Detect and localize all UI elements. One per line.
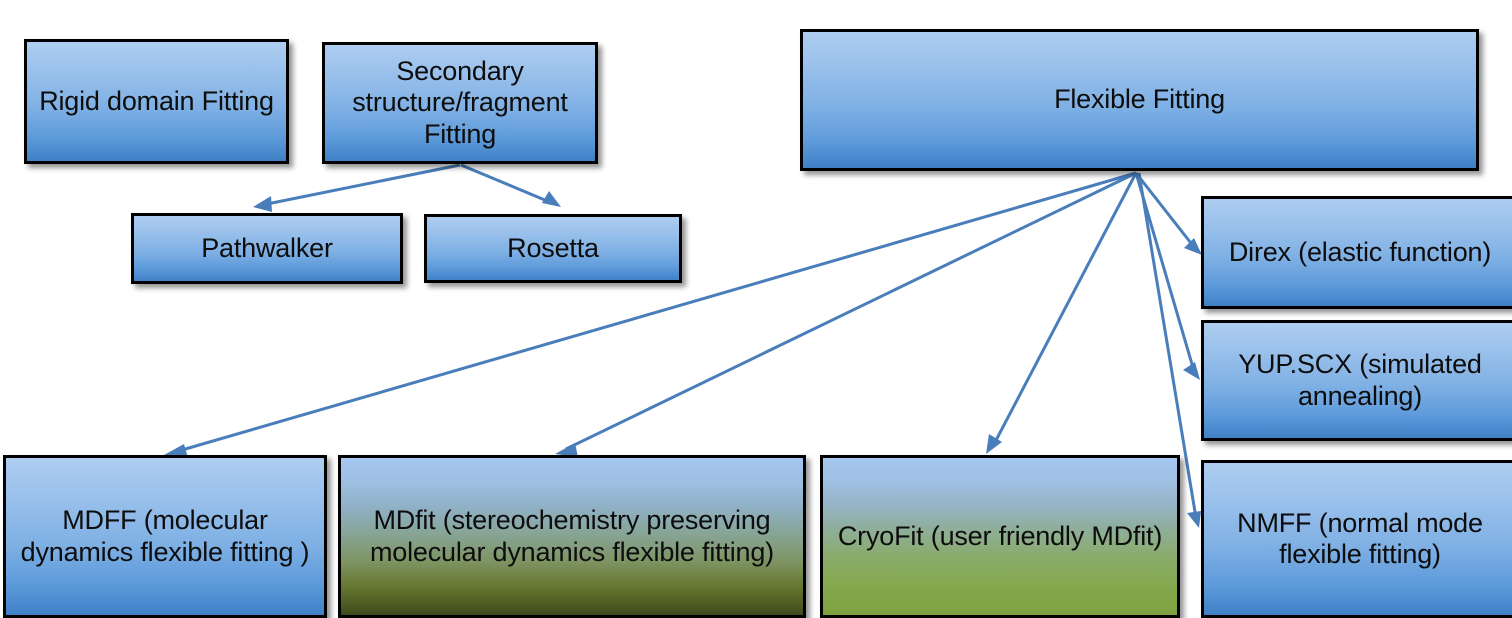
node-mdff[interactable]: MDFF (molecular dynamics flexible fittin… <box>3 455 327 618</box>
node-nmff[interactable]: NMFF (normal mode flexible fitting) <box>1201 460 1512 618</box>
node-label: CryoFit (user friendly MDfit) <box>831 521 1169 552</box>
node-label: Pathwalker <box>142 233 392 264</box>
node-rosetta[interactable]: Rosetta <box>424 214 682 283</box>
node-pathwalker[interactable]: Pathwalker <box>131 213 403 284</box>
node-rigid-domain-fitting[interactable]: Rigid domain Fitting <box>24 39 289 164</box>
diagram-canvas: Rigid domain Fitting Secondary structure… <box>0 0 1512 610</box>
node-label: Flexible Fitting <box>811 84 1468 115</box>
connector-flexible-to-cryofit <box>986 173 1136 454</box>
node-direx[interactable]: Direx (elastic function) <box>1201 196 1512 309</box>
node-label: Secondary structure/fragment Fitting <box>333 56 587 150</box>
node-flexible-fitting[interactable]: Flexible Fitting <box>800 29 1479 171</box>
connector-secondary-to-rosetta <box>461 165 561 207</box>
node-label: YUP.SCX (simulated annealing) <box>1212 349 1508 412</box>
node-label: Direx (elastic function) <box>1212 237 1508 268</box>
node-mdfit[interactable]: MDfit (stereochemistry preserving molecu… <box>338 455 806 618</box>
node-label: Rosetta <box>435 233 671 264</box>
node-cryofit[interactable]: CryoFit (user friendly MDfit) <box>820 455 1180 618</box>
node-label: Rigid domain Fitting <box>35 86 278 117</box>
node-label: NMFF (normal mode flexible fitting) <box>1212 508 1508 571</box>
node-yup-scx[interactable]: YUP.SCX (simulated annealing) <box>1201 320 1512 441</box>
node-label: MDfit (stereochemistry preserving molecu… <box>349 505 795 568</box>
connector-secondary-to-pathwalker <box>253 165 460 212</box>
node-label: MDFF (molecular dynamics flexible fittin… <box>14 505 316 568</box>
node-secondary-structure-fitting[interactable]: Secondary structure/fragment Fitting <box>322 42 598 164</box>
